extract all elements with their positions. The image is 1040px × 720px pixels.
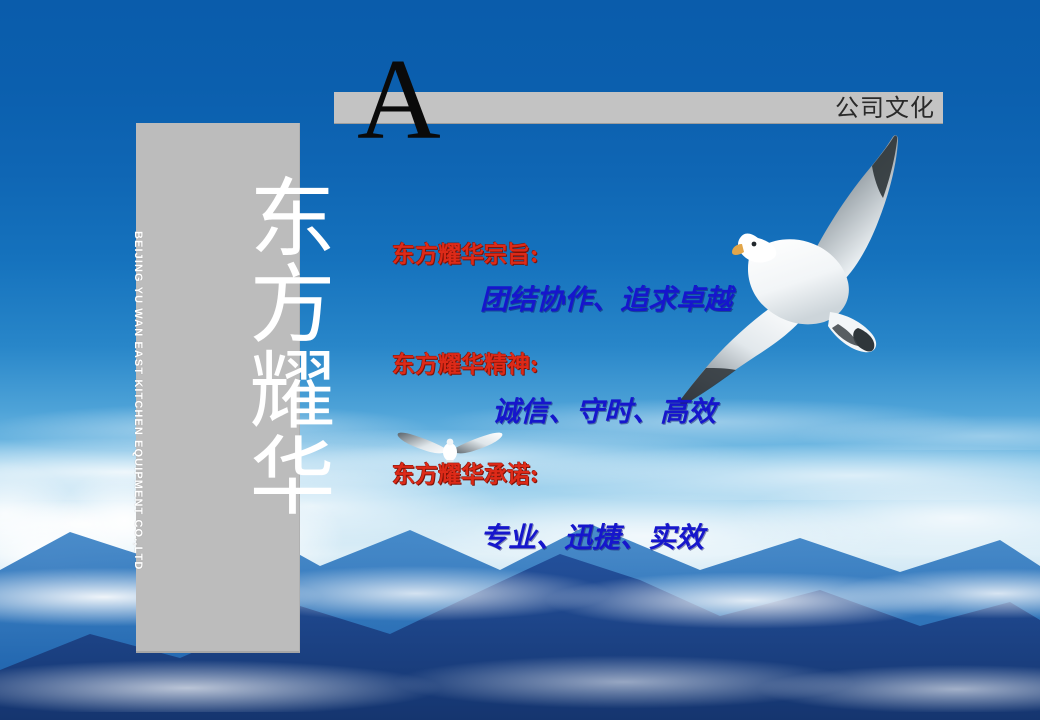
company-chinese-name: 东方耀华 xyxy=(220,173,340,643)
brand-panel: BEIJING YU WAN EAST KITCHEN EQUIPMENT CO… xyxy=(136,123,300,653)
culture-value-promise: 专业、迅捷、实效 xyxy=(392,518,912,558)
culture-value-spirit: 诚信、守时、高效 xyxy=(392,392,912,432)
company-english-name: BEIJING YU WAN EAST KITCHEN EQUIPMENT CO… xyxy=(132,231,144,601)
culture-group-purpose: 东方耀华宗旨: 团结协作、追求卓越 xyxy=(392,238,912,320)
culture-heading-spirit: 东方耀华精神: xyxy=(392,348,912,382)
culture-group-promise: 东方耀华承诺: 专业、迅捷、实效 xyxy=(392,458,912,558)
culture-heading-promise: 东方耀华承诺: xyxy=(392,458,912,492)
section-letter-a: A xyxy=(357,42,441,158)
culture-value-purpose: 团结协作、追求卓越 xyxy=(392,280,912,320)
culture-group-spirit: 东方耀华精神: 诚信、守时、高效 xyxy=(392,348,912,432)
culture-text-block: 东方耀华宗旨: 团结协作、追求卓越 东方耀华精神: 诚信、守时、高效 东方耀华承… xyxy=(392,238,912,566)
slide-canvas: 公司文化 A BEIJING YU WAN EAST KITCHEN EQUIP… xyxy=(0,0,1040,720)
culture-heading-purpose: 东方耀华宗旨: xyxy=(392,238,912,272)
section-title: 公司文化 xyxy=(835,93,935,123)
